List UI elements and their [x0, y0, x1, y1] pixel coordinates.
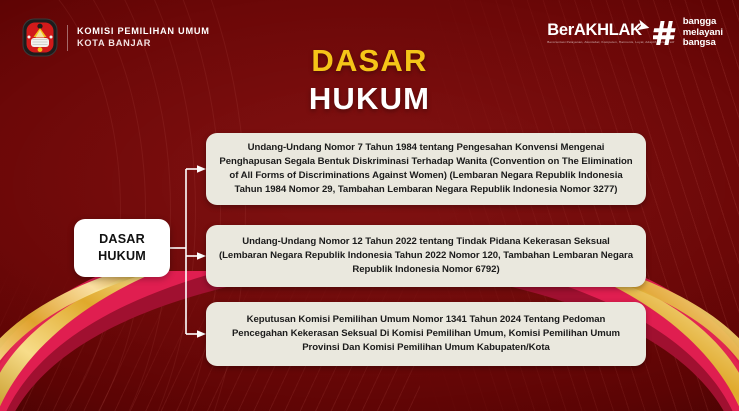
law-box-text: Keputusan Komisi Pemilihan Umum Nomor 13… — [218, 313, 634, 356]
law-box-uu-7-1984[interactable]: Undang-Undang Nomor 7 Tahun 1984 tentang… — [206, 133, 646, 205]
root-node-dasar-hukum[interactable]: DASAR HUKUM — [74, 219, 170, 277]
law-box-text: Undang-Undang Nomor 12 Tahun 2022 tentan… — [218, 235, 634, 278]
root-node-line1: DASAR — [99, 231, 145, 248]
slide-canvas: KOMISI PEMILIHAN UMUM KOTA BANJAR BerAKH… — [0, 0, 739, 411]
law-box-uu-12-2022[interactable]: Undang-Undang Nomor 12 Tahun 2022 tentan… — [206, 225, 646, 287]
law-box-text: Undang-Undang Nomor 7 Tahun 1984 tentang… — [218, 141, 634, 198]
law-box-kepkpu-1341-2024[interactable]: Keputusan Komisi Pemilihan Umum Nomor 13… — [206, 302, 646, 366]
root-node-line2: HUKUM — [98, 248, 146, 265]
